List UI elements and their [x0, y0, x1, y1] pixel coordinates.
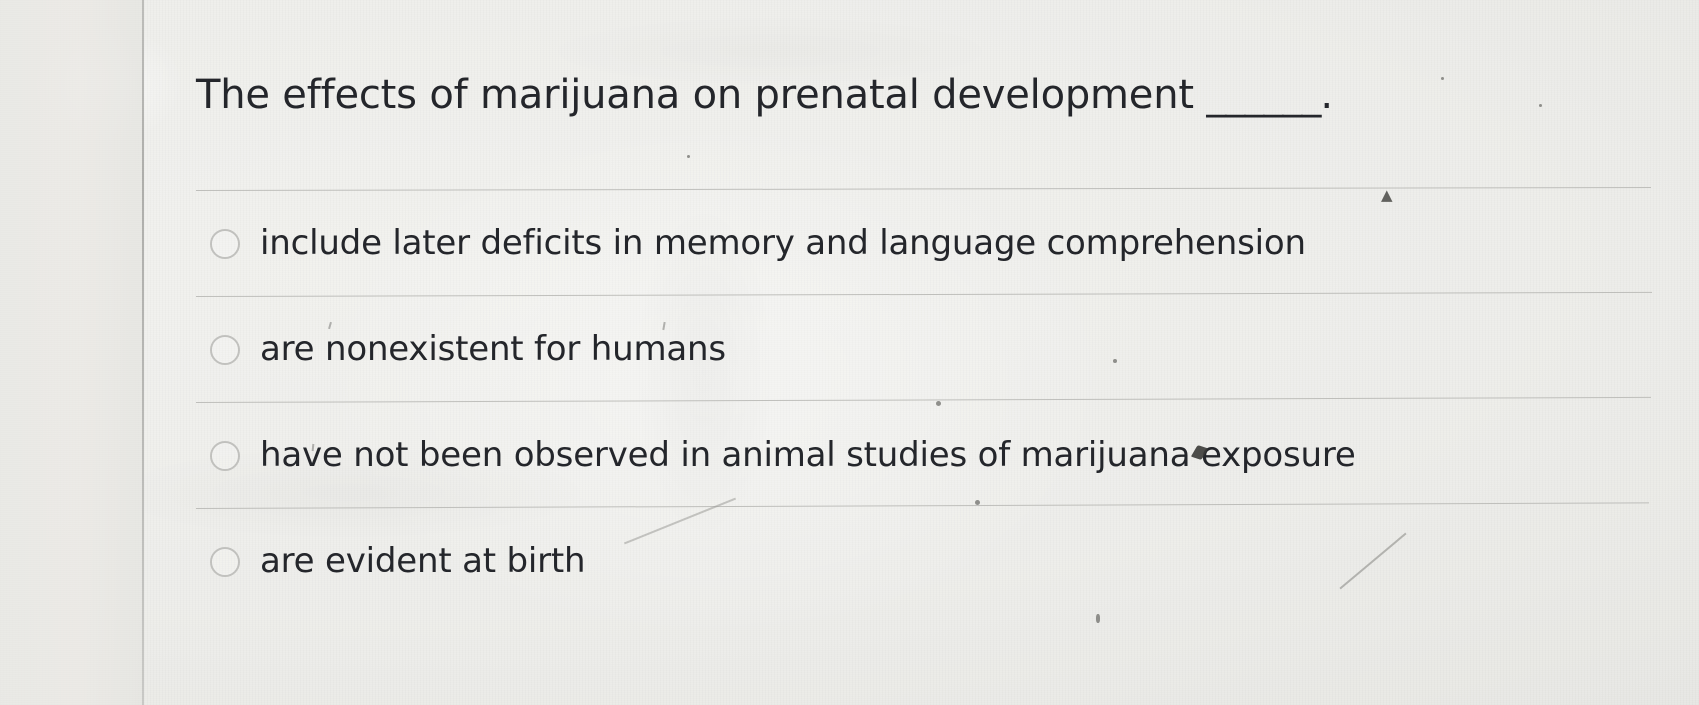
page-left-margin-band [0, 0, 143, 705]
answer-option-b[interactable]: are nonexistent for humans [196, 297, 1699, 402]
radio-button-icon[interactable] [210, 441, 240, 471]
answer-option-label: are nonexistent for humans [260, 330, 726, 369]
question-blank: ______ [1206, 72, 1320, 118]
answer-option-label: have not been observed in animal studies… [260, 436, 1356, 475]
question-stem: The effects of marijuana on prenatal dev… [196, 72, 1496, 119]
question-terminator: . [1320, 72, 1333, 118]
answer-options-list: include later deficits in memory and lan… [196, 190, 1699, 614]
answer-option-a[interactable]: include later deficits in memory and lan… [196, 191, 1699, 296]
answer-option-d[interactable]: are evident at birth [196, 509, 1699, 614]
photographed-quiz-page: The effects of marijuana on prenatal dev… [0, 0, 1699, 705]
radio-button-icon[interactable] [210, 547, 240, 577]
answer-option-label: are evident at birth [260, 542, 585, 581]
quiz-content: The effects of marijuana on prenatal dev… [143, 0, 1699, 705]
answer-option-c[interactable]: have not been observed in animal studies… [196, 403, 1699, 508]
radio-button-icon[interactable] [210, 229, 240, 259]
radio-button-icon[interactable] [210, 335, 240, 365]
question-stem-text: The effects of marijuana on prenatal dev… [196, 72, 1194, 118]
answer-option-label: include later deficits in memory and lan… [260, 224, 1306, 263]
